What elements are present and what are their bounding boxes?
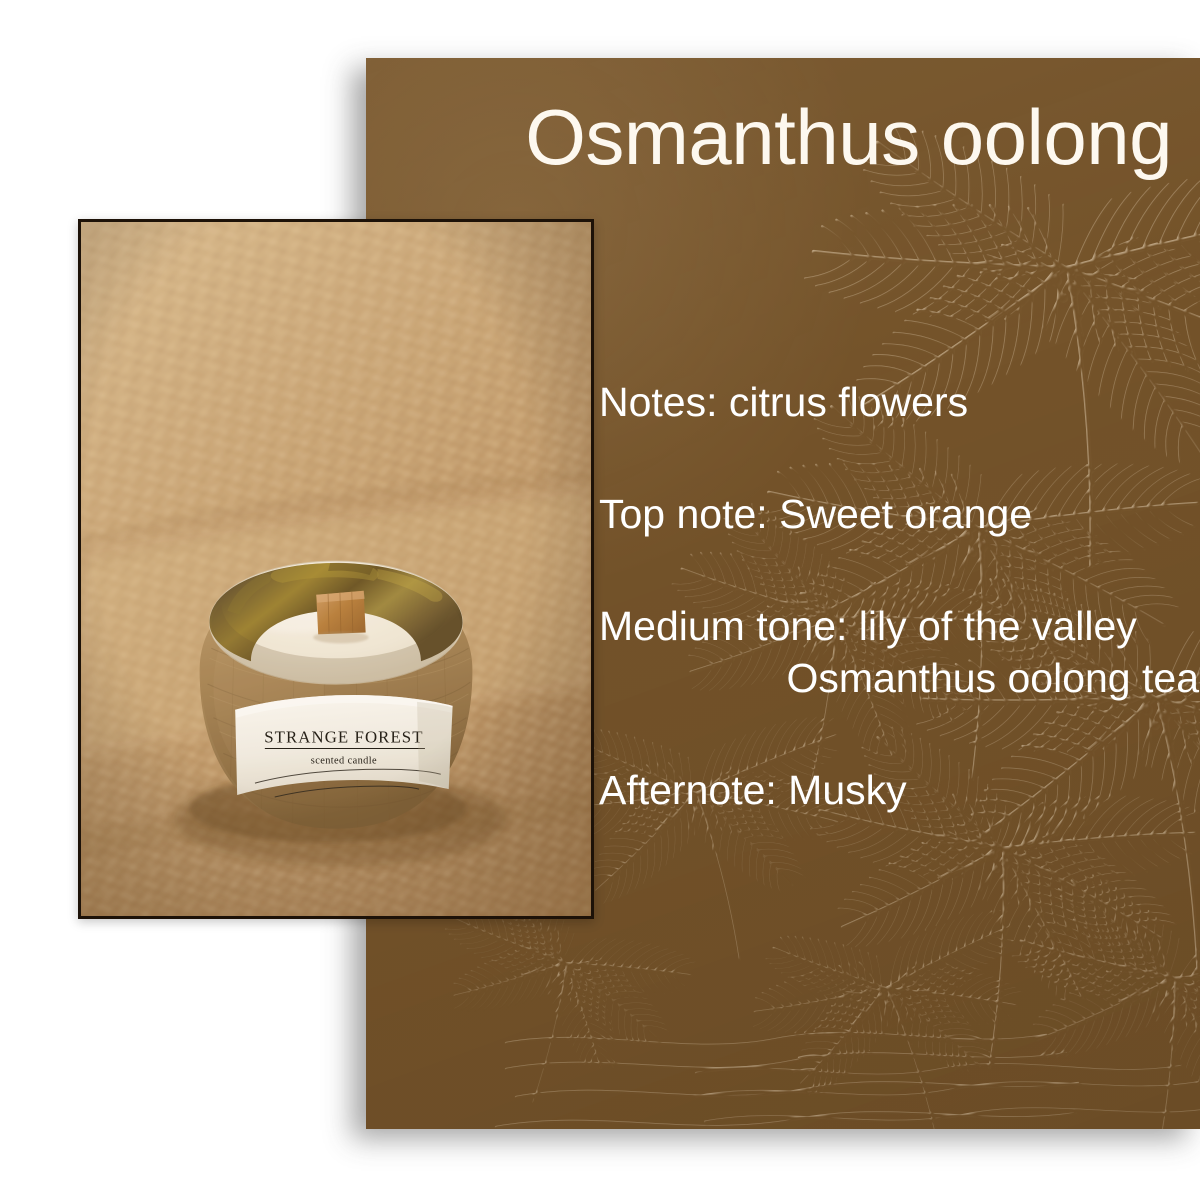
note-line-continuation: Osmanthus oolong tea: [599, 656, 1199, 702]
fragrance-notes-list: Notes: citrus flowers Top note: Sweet or…: [599, 380, 1199, 814]
note-block-top-note: Top note: Sweet orange: [599, 492, 1199, 538]
note-line: Notes: citrus flowers: [599, 380, 1199, 426]
note-block-afternote: Afternote: Musky: [599, 768, 1199, 814]
note-block-medium-tone: Medium tone: lily of the valley Osmanthu…: [599, 604, 1199, 702]
page-title: Osmanthus oolong: [472, 98, 1172, 176]
note-block-top-notes: Notes: citrus flowers: [599, 380, 1199, 426]
note-line: Medium tone: lily of the valley: [599, 604, 1199, 650]
product-photo: STRANGE FOREST scented candle: [78, 219, 594, 919]
note-line: Afternote: Musky: [599, 768, 1199, 814]
note-line: Top note: Sweet orange: [599, 492, 1199, 538]
